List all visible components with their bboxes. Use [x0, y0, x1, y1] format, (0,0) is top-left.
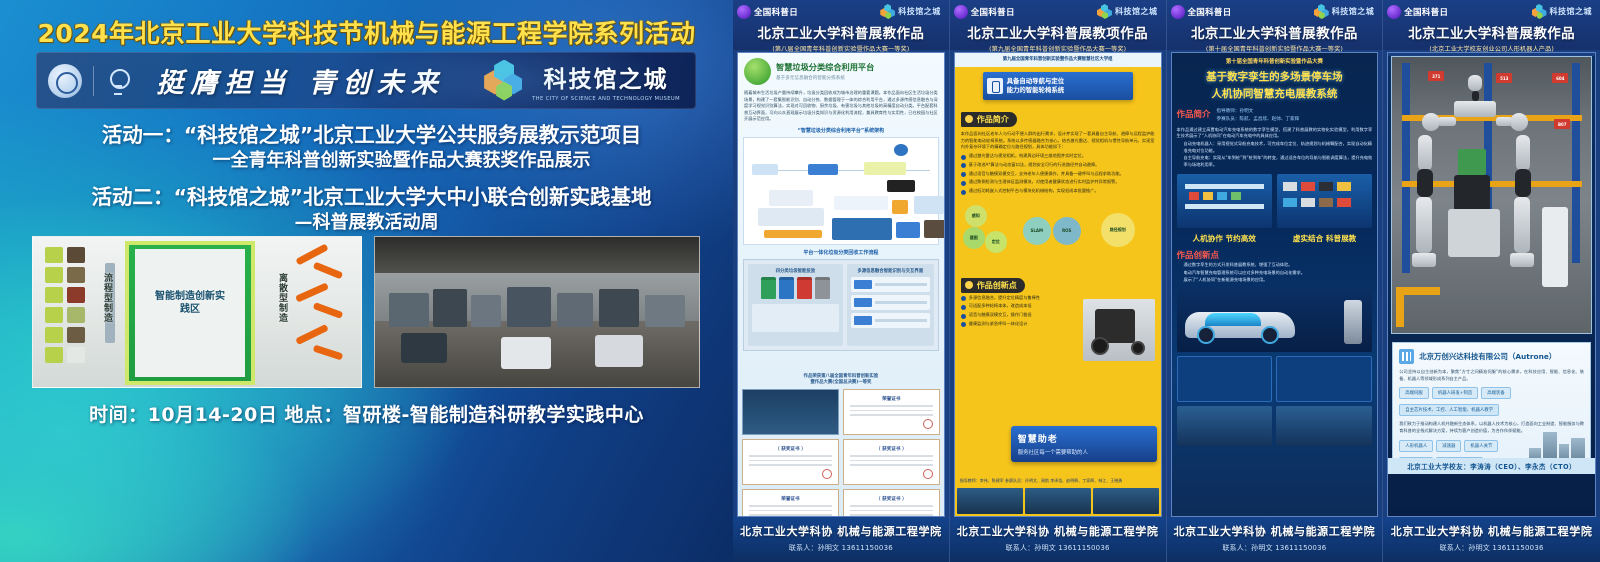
- poster-1-heading: 智慧垃圾分类综合利用平台: [776, 62, 874, 73]
- certificate-4: 荣誉证书: [742, 489, 839, 517]
- poster-2-section-1-text: 本作品面向社区老年人与行动不便人群的出行需求，设计并实现了一套具备自主导航、避障…: [961, 131, 1155, 151]
- photo-thumb: [1276, 406, 1372, 446]
- tag: 减速器: [1436, 440, 1461, 452]
- photo-thumb: [1093, 488, 1159, 514]
- photo-thumb: [957, 488, 1023, 514]
- poster-4-header: 全国科普日 科技馆之城 北京工业大学科普展教作品 (北京工业大学校友创业公司人形…: [1383, 0, 1600, 50]
- poster-4-company-desc: 公司坚持以自主创新为本，聚焦“方寸之间精准伺服”的核心需求，在科技应用、智能、信…: [1399, 369, 1584, 382]
- poster-3-title-line1: 基于数字孪生的多场景停车场: [1172, 69, 1378, 84]
- poster-1-title: 北京工业大学科普展教作品: [737, 22, 945, 42]
- photo-label-process-manufacturing: 流程型制造: [101, 273, 114, 323]
- brand-name-cn: 科技馆之城: [532, 60, 680, 94]
- poster-3-section-1-heading: 作品简介: [1177, 108, 1211, 124]
- badge-national-science-day: 全国科普日: [1404, 6, 1448, 18]
- event-main-title: 2024年北京工业大学科技节机械与能源工程学院系列活动: [0, 14, 733, 50]
- poster-1-heading-sub: 基于多元信息融合的智能分拣系统: [776, 75, 874, 81]
- building-icon: [1399, 349, 1414, 364]
- poster-2-smart-wheelchair: 全国科普日 科技馆之城 北京工业大学科普展教项作品 (第九届全国青年科普创新实验…: [950, 0, 1167, 562]
- hexagon-cluster-icon: [1532, 4, 1547, 19]
- parking-garage-render: [1177, 174, 1272, 228]
- poster-1-diagram-caption: “智慧垃圾分类综合利用平台”系统架构: [744, 127, 938, 134]
- poster-4-alumni-bar: 北京工业大学校友：李涛涛（CEO）、李永杰（CTO）: [1388, 458, 1595, 474]
- activity-two-line2: —科普展教活动周: [0, 208, 733, 234]
- team-photo: [742, 389, 839, 435]
- flow-node: 定位: [985, 231, 1007, 253]
- poster-2-ribbon-line2: 能力的智能轮椅系统: [1007, 86, 1065, 95]
- poster-3-footer-org: 北京工业大学科协 机械与能源工程学院: [1167, 523, 1383, 539]
- badge-national-science-day: 全国科普日: [1188, 6, 1232, 18]
- poster-2-header: 全国科普日 科技馆之城 北京工业大学科普展教项作品 (第九届全国青年科普创新实验…: [950, 0, 1166, 50]
- globe-icon: [1387, 5, 1401, 19]
- flow-node: 建图: [963, 227, 985, 249]
- activity-one-line2: 一全青年科普创新实验暨作品大赛获奖作品展示: [0, 146, 733, 172]
- poster-composite: 2024年北京工业大学科技节机械与能源工程学院系列活动 挺膺担当 青创未来 科技…: [0, 0, 1600, 562]
- humanoid-robot-photo: 371 513 604 B07: [1391, 56, 1592, 334]
- list-item: [851, 295, 930, 310]
- poster-4-title: 北京工业大学科普展教作品: [1387, 22, 1596, 42]
- poster-2-flow-diagram: 感知 建图 定位 SLAM ROS 路径规划: [961, 201, 1155, 263]
- poster-1-body: 智慧垃圾分类综合利用平台 基于多元信息融合的智能分拣系统 随着城市生活垃圾产量持…: [737, 52, 945, 517]
- poster-2-photo-row: [955, 488, 1161, 516]
- badge-city-of-museums: 科技馆之城: [898, 6, 941, 17]
- poster-3-footer: 北京工业大学科协 机械与能源工程学院 联系人：孙明文 13611150036: [1167, 517, 1383, 562]
- list-item: 自动充电机器人：采用视觉式导航充电技术，可完成车位定位、轨迹规划与机械臂配合，实…: [1172, 141, 1378, 154]
- poster-2-title: 北京工业大学科普展教项作品: [954, 22, 1162, 42]
- ev-charging-illustration: [1177, 288, 1373, 352]
- poster-4-footer-org: 北京工业大学科协 机械与能源工程学院: [1383, 523, 1600, 539]
- bin-kitchen: [815, 277, 830, 299]
- list-item: [851, 313, 930, 328]
- badge-city-of-museums: 科技馆之城: [1115, 6, 1158, 17]
- brand-block: 科技馆之城 THE CITY OF SCIENCE AND TECHNOLOGY…: [532, 60, 680, 102]
- certificate-2: （ 获奖证书 ）: [742, 439, 839, 485]
- tag: 自主芯片技术、工控、人工智能、机器人教学: [1399, 404, 1499, 416]
- hexagon-cluster-icon: [880, 4, 895, 19]
- tag: 机器人研发+制造: [1432, 387, 1478, 399]
- poster-1-waste-sorting: 全国科普日 科技馆之城 北京工业大学科普展教作品 (第八届全国青年科普创新实验暨…: [733, 0, 950, 562]
- bin-hazardous: [797, 277, 812, 299]
- poster-1-system-diagram: [743, 137, 939, 245]
- poster-1-bins-panel: 四分类垃圾智能投放 多源信息融合智能识别与交互界面: [743, 259, 939, 351]
- hexagon-cluster-icon: [480, 58, 526, 104]
- poster-3-body: 第十届全国青年科普创新实验暨作品大赛 基于数字孪生的多场景停车场 人机协同智慧充…: [1171, 52, 1379, 517]
- parking-lot-render: [1277, 174, 1372, 228]
- poster-strip: 全国科普日 科技馆之城 北京工业大学科普展教作品 (第八届全国青年科普创新实验暨…: [733, 0, 1600, 562]
- photo-label-discrete-manufacturing: 离散型制造: [276, 273, 289, 323]
- list-item: 健康监测与紧急呼叫一体化设计: [961, 321, 1155, 328]
- globe-icon: [737, 5, 751, 19]
- list-item: 通过语音与触摸双模交互，支持老年人便捷操作，并具备一键呼叫与远程求助功能。: [961, 171, 1155, 178]
- badge-national-science-day: 全国科普日: [971, 6, 1015, 18]
- recycle-icon: [744, 58, 771, 85]
- brand-name-en: THE CITY OF SCIENCE AND TECHNOLOGY MUSEU…: [532, 96, 680, 102]
- list-item: 通过低功耗嵌入式控制平台与模块化机械结构，实现低成本批量推广。: [961, 188, 1155, 195]
- flow-node: ROS: [1053, 217, 1081, 245]
- poster-4-company-name: 北京万创兴达科技有限公司（Autrone）: [1419, 351, 1556, 362]
- list-item: 通过数字孪生的方式开发科普展教系统，增强了互动体验。: [1172, 262, 1378, 269]
- wheelchair-icon: [987, 78, 1003, 94]
- poster-3-footer-contact: 联系人：孙明文 13611150036: [1167, 543, 1383, 553]
- list-item: 通过跌倒检测与生理体征监测模块，对使用者健康状态进行实时监护并异常报警。: [961, 179, 1155, 186]
- poster-2-credits: 指导教师：李伟、陈建军 参赛队员：孙明文、周航 李泽浩、赵明辉、丁家辉、林江、王…: [960, 478, 1156, 484]
- poster-3-members: 参赛队员：陈航、孟昌欣、赵帅、丁家辉: [1217, 116, 1373, 124]
- bin-recyclable: [761, 277, 776, 299]
- tag: 高端装备: [1481, 387, 1511, 399]
- event-announcement-panel: 2024年北京工业大学科技节机械与能源工程学院系列活动 挺膺担当 青创未来 科技…: [0, 0, 733, 562]
- university-logo-icon: [48, 64, 82, 98]
- poster-1-panel-title: 多源信息融合智能识别与交互界面: [851, 268, 930, 274]
- list-item: 自主导航充电：实现从“车到桩”到“桩到车”的转变，通过适合车位的导航与智能调度算…: [1172, 155, 1378, 168]
- event-time-place: 时间：10月14-20日 地点：智研楼-智能制造科研教学实践中心: [0, 400, 733, 427]
- poster-3-title-line2: 人机协同智慧充电展教系统: [1172, 86, 1378, 101]
- poster-3-title: 北京工业大学科普展教作品: [1171, 22, 1379, 42]
- poster-1-header: 全国科普日 科技馆之城 北京工业大学科普展教作品 (第八届全国青年科普创新实验暨…: [733, 0, 949, 50]
- hexagon-cluster-icon: [1314, 4, 1329, 19]
- poster-1-bins-title: 四分类垃圾智能投放: [752, 268, 839, 274]
- poster-2-banner-title: 智慧助老: [1018, 432, 1150, 445]
- flow-node: 感知: [965, 205, 987, 227]
- poster-2-top-strip: 第九届全国青年科普创新实验暨作品大赛智慧社区大学组: [955, 53, 1161, 67]
- photo-label-innovation-zone: 智能制造创新实践区: [151, 291, 229, 316]
- poster-1-diagram-caption-2: 平台一体化垃圾分类回收工作流程: [738, 249, 944, 256]
- poster-4-footer-contact: 联系人：孙明文 13611150036: [1383, 543, 1600, 553]
- list-item: 电动汽车智慧充电管理系统可以应对多种充电场景的自动化需求。: [1172, 270, 1378, 277]
- globe-icon: [1171, 5, 1185, 19]
- poster-3-photo-grid: [1172, 406, 1378, 446]
- list-item: 语音与触摸双模交互，操作门槛低: [961, 312, 1155, 319]
- poster-2-section-1-heading: 作品简介: [961, 112, 1017, 127]
- list-item: 基于改进A*算法与动态窗口法，规划安全可行的行进路径并自动避障。: [961, 162, 1155, 169]
- slogan-banner: 挺膺担当 青创未来 科技馆之城 THE CITY OF SCIENCE AND …: [36, 52, 696, 109]
- poster-1-footer-contact: 联系人：孙明文 13611150036: [733, 543, 949, 553]
- poster-1-footer-org: 北京工业大学科协 机械与能源工程学院: [733, 523, 949, 539]
- poster-3-img-caption-2: 虚实结合 科普展教: [1277, 233, 1372, 244]
- photo-thumb: [1177, 406, 1273, 446]
- poster-4-humanoid-robot: 全国科普日 科技馆之城 北京工业大学科普展教作品 (北京工业大学校友创业公司人形…: [1383, 0, 1600, 562]
- poster-2-banner-sub: 服务社区每一个需要帮助的人: [1018, 448, 1150, 456]
- lightbulb-icon: [105, 66, 131, 96]
- poster-2-footer-contact: 联系人：孙明文 13611150036: [950, 543, 1166, 553]
- list-item: 展示了“人机协同”在新能源充电场景的应用。: [1172, 277, 1378, 284]
- poster-3-ribbon: 第十届全国青年科普创新实验暨作品大赛: [1172, 53, 1378, 65]
- badge-national-science-day: 全国科普日: [754, 6, 798, 18]
- poster-3-img-caption-1: 人机协作 节约高效: [1177, 233, 1272, 244]
- list-item: 多源信息融合，提升定位精度与鲁棒性: [961, 295, 1155, 302]
- poster-3-image-row: [1172, 169, 1378, 233]
- poster-2-body: 第九届全国青年科普创新实验暨作品大赛智慧社区大学组 具备自动导航与定位 能力的智…: [954, 52, 1162, 517]
- poster-1-gallery-caption-2: 暨作品大赛(全国总决赛)一等奖: [742, 379, 940, 385]
- tag: 人形机器人: [1399, 440, 1433, 452]
- poster-3-header: 全国科普日 科技馆之城 北京工业大学科普展教作品 (第十届全国青年科普创新实验暨…: [1167, 0, 1383, 50]
- poster-1-footer: 北京工业大学科协 机械与能源工程学院 联系人：孙明文 13611150036: [733, 517, 949, 562]
- screen-capture: [1276, 356, 1372, 402]
- list-item: 通过激光雷达与视觉相机，构建周边环境三维地图并实时定位。: [961, 153, 1155, 160]
- poster-4-footer: 北京工业大学科协 机械与能源工程学院 联系人：孙明文 13611150036: [1383, 517, 1600, 562]
- poster-3-section-2-heading: 作品创新点: [1177, 249, 1220, 261]
- poster-2-footer: 北京工业大学科协 机械与能源工程学院 联系人：孙明文 13611150036: [950, 517, 1166, 562]
- poster-1-intro: 随着城市生活垃圾产量持续攀升，垃圾分类回收成为城市治理的重要课题。本作品面向社区…: [744, 90, 938, 123]
- bin-other: [779, 277, 794, 299]
- badge-city-of-museums: 科技馆之城: [1550, 6, 1593, 17]
- poster-2-section-2-heading: 作品创新点: [961, 278, 1025, 293]
- activity-one-line1: 活动一：“科技馆之城”北京工业大学公共服务展教示范项目: [0, 118, 733, 148]
- tag: 机器人关节: [1464, 440, 1498, 452]
- poster-3-intro: 本作品通过建立高置电动汽车充电系统的数字孪生模型，搭建了科普展教的实物化实验模型…: [1172, 127, 1378, 140]
- poster-1-award-gallery: 作品荣获第八届全国青年科普创新实验 暨作品大赛(全国总决赛)一等奖 荣誉证书 （…: [742, 373, 940, 512]
- photo-smart-manufacturing-lab: 流程型制造 智能制造创新实践区 离散型制造: [32, 236, 362, 388]
- list-item: 可适配多种轮椅本体，改造成本低: [961, 303, 1155, 310]
- certificate-3: （ 获奖证书 ）: [843, 439, 940, 485]
- poster-3-teacher: 指导教师：孙明文: [1217, 108, 1373, 116]
- flow-node: SLAM: [1023, 217, 1051, 245]
- activity-two-line1: 活动二：“科技馆之城”北京工业大学大中小联合创新实践基地: [0, 180, 733, 210]
- screen-capture: [1177, 356, 1273, 402]
- flow-node: 路径规划: [1101, 213, 1135, 247]
- list-item: [851, 277, 930, 292]
- poster-3-lower-images: [1172, 352, 1378, 406]
- tag: 高端伺服: [1399, 387, 1429, 399]
- poster-4-body: 371 513 604 B07: [1387, 52, 1596, 517]
- slogan-text: 挺膺担当 青创未来: [131, 61, 480, 100]
- hexagon-cluster-icon: [1097, 4, 1112, 19]
- poster-2-footer-org: 北京工业大学科协 机械与能源工程学院: [950, 523, 1166, 539]
- poster-4-company-card: 北京万创兴达科技有限公司（Autrone） 公司坚持以自主创新为本，聚焦“方寸之…: [1392, 342, 1591, 471]
- poster-2-ribbon: 具备自动导航与定位 能力的智能轮椅系统: [983, 72, 1133, 100]
- event-photo-row: 流程型制造 智能制造创新实践区 离散型制造: [32, 236, 700, 388]
- certificate-5: （ 获奖证书 ）: [843, 489, 940, 517]
- badge-city-of-museums: 科技馆之城: [1332, 6, 1375, 17]
- photo-exhibition-hall: [374, 236, 700, 388]
- poster-3-ev-charging: 全国科普日 科技馆之城 北京工业大学科普展教作品 (第十届全国青年科普创新实验暨…: [1167, 0, 1384, 562]
- globe-icon: [954, 5, 968, 19]
- poster-2-ribbon-line1: 具备自动导航与定位: [1007, 77, 1065, 86]
- certificate-1: 荣誉证书: [843, 389, 940, 435]
- poster-2-banner: 智慧助老 服务社区每一个需要帮助的人: [1011, 426, 1157, 462]
- divider: [93, 66, 94, 96]
- photo-thumb: [1025, 488, 1091, 514]
